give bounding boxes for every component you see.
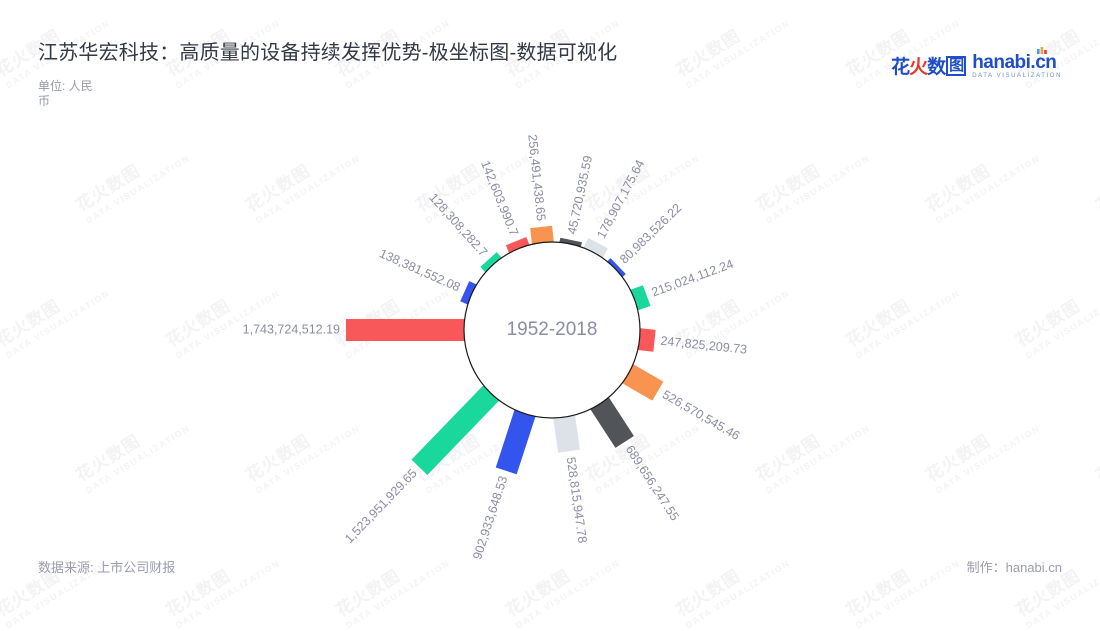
page-title: 江苏华宏科技：高质量的设备持续发挥优势-极坐标图-数据可视化: [38, 36, 617, 65]
bar-value-label: 1,743,724,512.19: [243, 322, 340, 336]
logo-domain-text: hanabi.cn: [972, 53, 1062, 72]
data-source-note: 数据来源: 上市公司财报: [38, 557, 175, 576]
bar-value-label: 256,491,438.65: [525, 134, 548, 222]
bar-value-label: 142,603,990.7: [478, 159, 521, 238]
bar-value-label: 178,907,175.64: [594, 158, 647, 241]
logo-char-huo: 火: [909, 52, 927, 79]
chart-unit-subtitle: 单位: 人民币: [38, 79, 94, 109]
bar-value-label: 80,983,526.22: [617, 201, 684, 267]
logo-chinese-wordmark: 花火数图: [891, 52, 966, 79]
logo-latin-block: hanabi.cn DATA VISUALIZATION: [972, 53, 1062, 79]
polar-bar[interactable]: [553, 414, 580, 453]
credit-note: 制作：hanabi.cn: [967, 557, 1062, 576]
logo-tagline: DATA VISUALIZATION: [972, 73, 1062, 79]
bar-value-label: 45,720,935.59: [565, 154, 595, 235]
logo-char-shu: 数: [927, 52, 945, 79]
bar-value-label: 138,381,552.08: [377, 246, 462, 294]
bar-value-label: 526,570,545.46: [660, 387, 742, 443]
polar-bar[interactable]: [411, 384, 500, 475]
logo-char-tu: 图: [946, 56, 966, 76]
polar-bar[interactable]: [346, 319, 466, 341]
bar-value-label: 247,825,209.73: [660, 334, 748, 357]
logo-char-hua: 花: [891, 52, 909, 79]
chart-header: 江苏华宏科技：高质量的设备持续发挥优势-极坐标图-数据可视化 单位: 人民币: [38, 36, 617, 109]
center-range-label: 1952-2018: [507, 319, 598, 340]
chart-page: 花火数图DATA VISUALIZATION花火数图DATA VISUALIZA…: [0, 0, 1100, 620]
bar-value-label: 1,523,951,929.65: [342, 466, 420, 546]
bar-value-label: 215,024,112.24: [650, 257, 736, 300]
bar-value-label: 689,656,247.55: [623, 443, 682, 524]
sparkle-icon: [1036, 46, 1050, 55]
hanabi-logo: 花火数图 hanabi.cn DATA VISUALIZATION: [891, 52, 1062, 79]
bar-value-label: 128,308,282.7: [426, 190, 490, 259]
bar-value-label: 528,815,947.78: [564, 456, 590, 544]
polar-bar[interactable]: [496, 408, 536, 474]
bar-value-label: 902,933,648.53: [470, 474, 510, 561]
